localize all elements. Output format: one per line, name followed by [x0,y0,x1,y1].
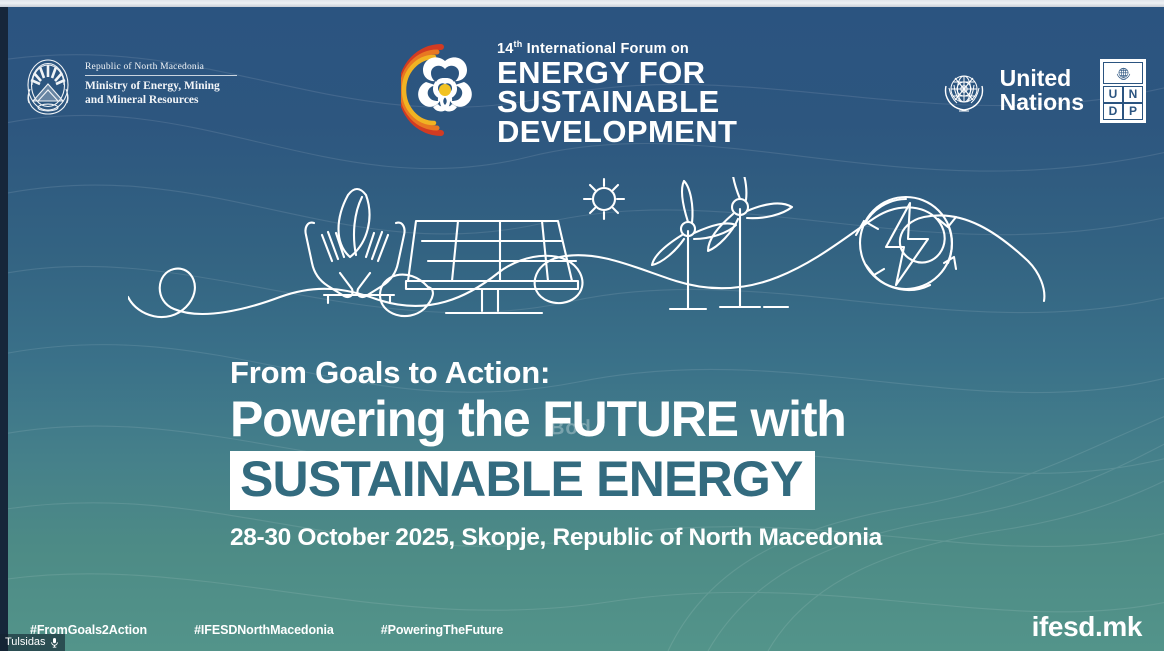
forum-title: ENERGY FOR SUSTAINABLE DEVELOPMENT [497,58,737,146]
headline-highlight-band: SUSTAINABLE ENERGY [230,451,815,510]
headline-line-2: Powering the FUTURE with [230,393,990,445]
hashtag-row: #FromGoals2Action #IFESDNorthMacedonia #… [30,623,503,637]
hashtag-item-2: #IFESDNorthMacedonia [194,623,334,637]
hashtag-item-3: #PoweringTheFuture [381,623,504,637]
undp-letter-u: U [1103,86,1123,103]
energy-line-illustration [128,177,1048,327]
north-macedonia-coat-of-arms-icon [20,55,76,115]
participant-name-label: Tulsidas [5,636,46,648]
conference-poster-slide: Republic of North Macedonia Ministry of … [8,7,1164,651]
undp-letter-d: D [1103,103,1123,120]
ministry-name-line-2: and Mineral Resources [85,94,245,108]
headline-kicker: From Goals to Action: [230,355,990,391]
poster-header: Republic of North Macedonia Ministry of … [8,7,1164,157]
poster-headline: From Goals to Action: Powering the FUTUR… [230,355,990,552]
undp-un-emblem-icon [1103,62,1143,84]
undp-letter-p: P [1123,103,1143,120]
united-nations-lockup: United Nations [937,64,1084,118]
forum-title-lockup: 14th International Forum on ENERGY FOR S… [401,29,737,146]
un-logos-lockup: United Nations [937,59,1146,123]
united-nations-emblem-icon [937,64,991,118]
un-word-line-2: Nations [1000,91,1084,115]
ministry-name-label: Ministry of Energy, Mining and Mineral R… [85,76,245,107]
ministry-logo-lockup: Republic of North Macedonia Ministry of … [20,55,245,115]
event-dateline: 28-30 October 2025, Skopje, Republic of … [230,524,990,552]
un-word-line-1: United [1000,67,1084,91]
window-top-strip [0,0,1164,7]
forum-title-line-2: SUSTAINABLE [497,87,737,116]
undp-letter-grid: U N D P [1103,86,1143,120]
forum-title-line-3: DEVELOPMENT [497,117,737,146]
undp-letter-n: N [1123,86,1143,103]
forum-title-line-1: ENERGY FOR [497,58,737,87]
united-nations-wordmark: United Nations [1000,67,1084,114]
ifesd-pinwheel-logo-icon [401,35,489,145]
ministry-name-line-1: Ministry of Energy, Mining [85,80,245,94]
screen-share-frame: Republic of North Macedonia Ministry of … [0,0,1164,651]
microphone-icon [50,637,59,648]
undp-logo: U N D P [1100,59,1146,123]
headline-line-3: SUSTAINABLE ENERGY [240,454,803,505]
participant-name-badge: Tulsidas [0,634,65,651]
event-website: ifesd.mk [1032,611,1142,643]
ministry-country-label: Republic of North Macedonia [85,62,237,76]
left-letterbox-margin [0,7,8,651]
